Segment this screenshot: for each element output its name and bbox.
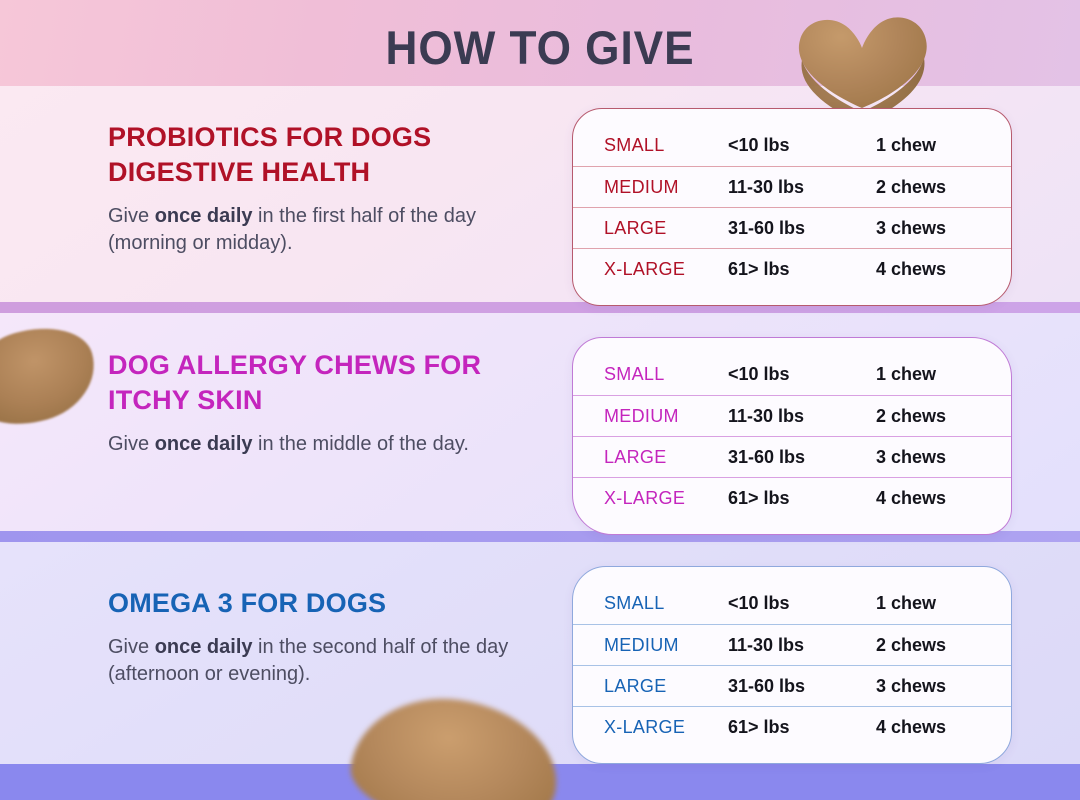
section-1-body-emphasis: once daily [155, 205, 253, 227]
infographic-page: HOW TO GIVE PROBIOTICS FOR DOGS DIGESTIV… [0, 0, 1080, 800]
section-1-heading: PROBIOTICS FOR DOGS DIGESTIVE HEALTH [108, 120, 538, 190]
section-1-heading-line-1: PROBIOTICS FOR DOGS [108, 120, 538, 155]
table-row: SMALL <10 lbs 1 chew [573, 354, 1011, 395]
section-3-body-prefix: Give [108, 636, 155, 658]
row-dose-value: 1 chew [876, 364, 981, 385]
row-size-label: X-LARGE [604, 488, 728, 509]
row-size-label: LARGE [604, 676, 728, 697]
row-size-label: X-LARGE [604, 717, 728, 738]
row-size-label: SMALL [604, 364, 728, 385]
row-dose-value: 4 chews [876, 717, 981, 738]
table-row: SMALL <10 lbs 1 chew [573, 125, 1011, 166]
row-weight-value: 61> lbs [728, 259, 876, 280]
row-size-label: LARGE [604, 218, 728, 239]
row-dose-value: 2 chews [876, 177, 981, 198]
row-weight-value: 31-60 lbs [728, 676, 876, 697]
row-size-label: MEDIUM [604, 406, 728, 427]
page-title: HOW TO GIVE [32, 20, 1047, 75]
section-1-text: PROBIOTICS FOR DOGS DIGESTIVE HEALTH Giv… [108, 120, 538, 256]
row-dose-value: 1 chew [876, 135, 981, 156]
row-dose-value: 4 chews [876, 259, 981, 280]
row-weight-value: <10 lbs [728, 593, 876, 614]
section-2-body-emphasis: once daily [155, 433, 253, 455]
row-dose-value: 4 chews [876, 488, 981, 509]
section-3-heading: OMEGA 3 FOR DOGS [108, 586, 538, 621]
section-2-body-suffix: in the middle of the day. [253, 433, 469, 455]
row-size-label: SMALL [604, 135, 728, 156]
row-size-label: MEDIUM [604, 635, 728, 656]
section-3-body-emphasis: once daily [155, 636, 253, 658]
section-2-dosing-card: SMALL <10 lbs 1 chew MEDIUM 11-30 lbs 2 … [572, 337, 1012, 535]
row-weight-value: 61> lbs [728, 488, 876, 509]
row-weight-value: <10 lbs [728, 135, 876, 156]
section-2-heading-line-1: DOG ALLERGY CHEWS FOR [108, 348, 538, 383]
section-2-heading: DOG ALLERGY CHEWS FOR ITCHY SKIN [108, 348, 538, 418]
table-row: MEDIUM 11-30 lbs 2 chews [573, 624, 1011, 665]
row-dose-value: 1 chew [876, 593, 981, 614]
section-2-body: Give once daily in the middle of the day… [108, 431, 538, 458]
table-row: LARGE 31-60 lbs 3 chews [573, 207, 1011, 248]
section-3-heading-line-1: OMEGA 3 FOR DOGS [108, 586, 538, 621]
table-row: X-LARGE 61> lbs 4 chews [573, 477, 1011, 518]
section-3-dosing-card: SMALL <10 lbs 1 chew MEDIUM 11-30 lbs 2 … [572, 566, 1012, 764]
row-dose-value: 3 chews [876, 447, 981, 468]
table-row: LARGE 31-60 lbs 3 chews [573, 665, 1011, 706]
row-dose-value: 3 chews [876, 676, 981, 697]
section-2-body-prefix: Give [108, 433, 155, 455]
row-size-label: SMALL [604, 593, 728, 614]
row-weight-value: 11-30 lbs [728, 406, 876, 427]
table-row: MEDIUM 11-30 lbs 2 chews [573, 166, 1011, 207]
table-row: SMALL <10 lbs 1 chew [573, 583, 1011, 624]
section-3-body: Give once daily in the second half of th… [108, 634, 538, 687]
section-1-heading-line-2: DIGESTIVE HEALTH [108, 155, 538, 190]
row-size-label: MEDIUM [604, 177, 728, 198]
section-1-body-prefix: Give [108, 205, 155, 227]
row-size-label: X-LARGE [604, 259, 728, 280]
footer-band [0, 764, 1080, 800]
table-row: MEDIUM 11-30 lbs 2 chews [573, 395, 1011, 436]
row-size-label: LARGE [604, 447, 728, 468]
section-1-dosing-card: SMALL <10 lbs 1 chew MEDIUM 11-30 lbs 2 … [572, 108, 1012, 306]
section-3-text: OMEGA 3 FOR DOGS Give once daily in the … [108, 586, 538, 687]
row-weight-value: 31-60 lbs [728, 447, 876, 468]
table-row: LARGE 31-60 lbs 3 chews [573, 436, 1011, 477]
section-1-body: Give once daily in the first half of the… [108, 203, 538, 256]
row-dose-value: 2 chews [876, 635, 981, 656]
table-row: X-LARGE 61> lbs 4 chews [573, 706, 1011, 747]
row-weight-value: 11-30 lbs [728, 635, 876, 656]
table-row: X-LARGE 61> lbs 4 chews [573, 248, 1011, 289]
row-weight-value: 31-60 lbs [728, 218, 876, 239]
row-weight-value: <10 lbs [728, 364, 876, 385]
row-weight-value: 61> lbs [728, 717, 876, 738]
row-weight-value: 11-30 lbs [728, 177, 876, 198]
row-dose-value: 2 chews [876, 406, 981, 427]
section-2-text: DOG ALLERGY CHEWS FOR ITCHY SKIN Give on… [108, 348, 538, 458]
row-dose-value: 3 chews [876, 218, 981, 239]
section-2-heading-line-2: ITCHY SKIN [108, 383, 538, 418]
